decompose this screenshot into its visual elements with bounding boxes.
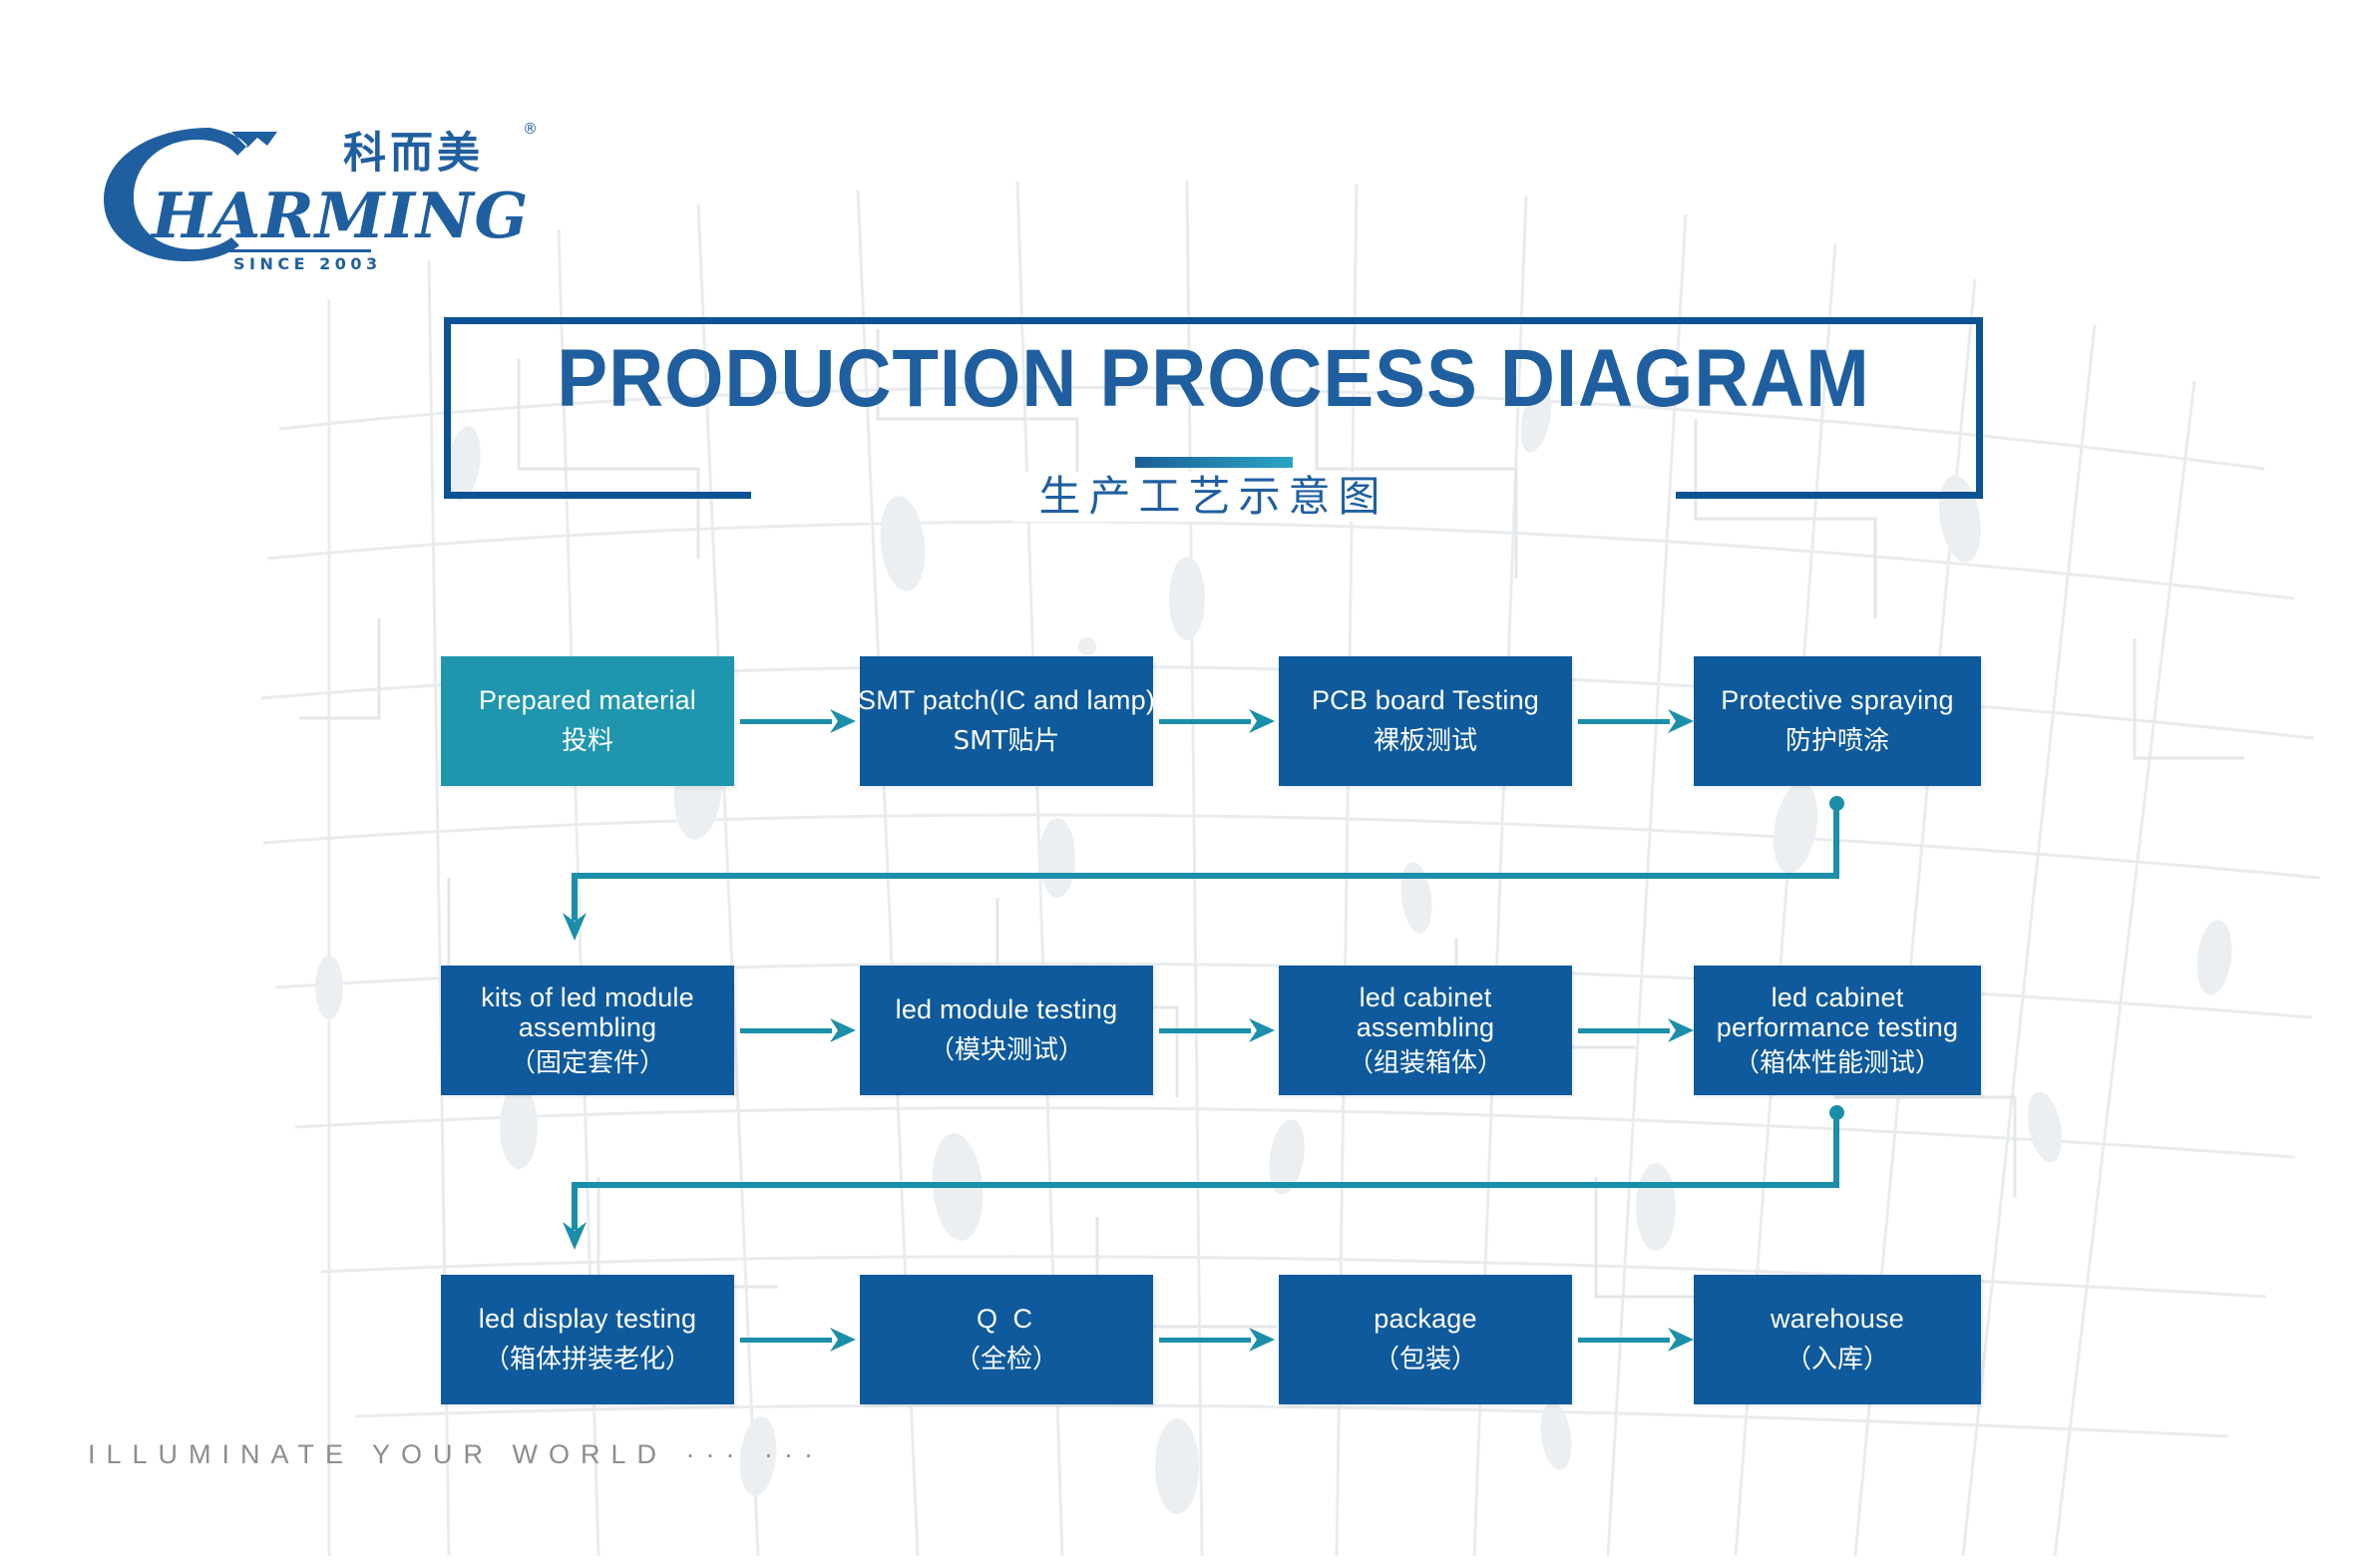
logo-since-text: SINCE 2003 bbox=[233, 254, 382, 271]
step-label-cn: （箱体拼装老化） bbox=[484, 1344, 691, 1375]
step-label-en: package bbox=[1374, 1304, 1476, 1334]
arrow-row3-2-to-3 bbox=[1159, 1325, 1275, 1355]
page-title: PRODUCTION PROCESS DIAGRAM bbox=[498, 331, 1929, 427]
step-label-cn: SMT贴片 bbox=[954, 725, 1060, 757]
footer-tagline: ILLUMINATE YOUR WORLD ··· ··· bbox=[88, 1439, 824, 1470]
step-label-cn: （固定套件） bbox=[510, 1047, 665, 1079]
arrow-shaft bbox=[1578, 1028, 1670, 1033]
arrow-head-icon bbox=[1668, 706, 1694, 736]
arrow-shaft bbox=[1578, 719, 1670, 724]
process-step-row1-4[interactable]: Protective spraying 防护喷涂 bbox=[1694, 656, 1981, 786]
title-frame-left-border bbox=[444, 317, 451, 499]
title-frame-bottom-right-border bbox=[1676, 492, 1983, 499]
process-step-row3-1[interactable]: led display testing （箱体拼装老化） bbox=[441, 1275, 734, 1404]
step-label-cn: （全检） bbox=[955, 1344, 1058, 1375]
step-label-en: led display testing bbox=[479, 1304, 696, 1334]
process-step-row1-3[interactable]: PCB board Testing 裸板测试 bbox=[1279, 656, 1572, 786]
page-subtitle: 生产工艺示意图 bbox=[1012, 472, 1413, 522]
step-label-en: SMT patch(IC and lamp) bbox=[858, 685, 1155, 715]
connector-arrow-head-icon bbox=[560, 913, 590, 941]
arrow-row1-2-to-3 bbox=[1159, 706, 1275, 736]
step-label-en: Prepared material bbox=[479, 685, 696, 715]
arrow-shaft bbox=[740, 719, 832, 724]
arrow-shaft bbox=[1159, 1338, 1251, 1343]
arrow-head-icon bbox=[830, 1325, 856, 1355]
charming-logo: HARMING 科而美 ® SINCE 2003 bbox=[82, 112, 541, 271]
title-frame-top-border bbox=[444, 317, 1983, 324]
process-step-row3-3[interactable]: package （包装） bbox=[1279, 1275, 1572, 1404]
step-label-cn: （入库） bbox=[1785, 1344, 1889, 1375]
arrow-row2-3-to-4 bbox=[1578, 1015, 1694, 1045]
arrow-shaft bbox=[1578, 1338, 1670, 1343]
step-label-en: led module testing bbox=[896, 994, 1118, 1024]
arrow-head-icon bbox=[830, 706, 856, 736]
arrow-shaft bbox=[1159, 719, 1251, 724]
arrow-shaft bbox=[1159, 1028, 1251, 1033]
step-label-cn: 裸板测试 bbox=[1374, 725, 1477, 757]
step-label-en: led cabinet performance testing bbox=[1694, 982, 1981, 1042]
step-label-en: Q C bbox=[977, 1304, 1036, 1334]
title-accent-underline bbox=[1135, 457, 1293, 468]
process-step-row1-1[interactable]: Prepared material 投料 bbox=[441, 656, 734, 786]
connector-vertical-right bbox=[1833, 803, 1839, 878]
process-step-row3-4[interactable]: warehouse （入库） bbox=[1694, 1275, 1981, 1404]
connector-horizontal bbox=[572, 873, 1839, 879]
step-label-en: PCB board Testing bbox=[1312, 685, 1539, 715]
step-label-cn: （模块测试） bbox=[929, 1034, 1084, 1066]
step-label-en: kits of led module assembling bbox=[457, 982, 718, 1042]
logo-wordmark-text: HARMING bbox=[150, 179, 529, 252]
arrow-row3-3-to-4 bbox=[1578, 1325, 1694, 1355]
step-label-cn: （箱体性能测试） bbox=[1734, 1047, 1941, 1079]
title-frame-right-border bbox=[1976, 317, 1983, 499]
connector-horizontal bbox=[572, 1182, 1839, 1188]
arrow-row1-3-to-4 bbox=[1578, 706, 1694, 736]
arrow-head-icon bbox=[1668, 1325, 1694, 1355]
arrow-row3-1-to-2 bbox=[740, 1325, 856, 1355]
process-step-row2-1[interactable]: kits of led module assembling （固定套件） bbox=[441, 966, 734, 1095]
step-label-en: led cabinet assembling bbox=[1326, 982, 1525, 1042]
title-frame-bottom-left-border bbox=[444, 492, 751, 499]
arrow-head-icon bbox=[1668, 1015, 1694, 1045]
title-frame: PRODUCTION PROCESS DIAGRAM 生产工艺示意图 bbox=[444, 317, 1983, 499]
process-step-row2-3[interactable]: led cabinet assembling （组装箱体） bbox=[1279, 966, 1572, 1095]
arrow-row2-1-to-2 bbox=[740, 1015, 856, 1045]
registered-trademark-icon: ® bbox=[523, 120, 538, 138]
connector-vertical-right bbox=[1833, 1112, 1839, 1187]
process-step-row1-2[interactable]: SMT patch(IC and lamp) SMT贴片 bbox=[860, 656, 1153, 786]
process-step-row3-2[interactable]: Q C （全检） bbox=[860, 1275, 1153, 1404]
step-label-en: warehouse bbox=[1771, 1304, 1904, 1334]
arrow-row1-1-to-2 bbox=[740, 706, 856, 736]
arrow-head-icon bbox=[1249, 1015, 1275, 1045]
step-label-en: Protective spraying bbox=[1721, 685, 1953, 715]
arrow-head-icon bbox=[1249, 1325, 1275, 1355]
arrow-shaft bbox=[740, 1028, 832, 1033]
production-process-diagram-page: HARMING 科而美 ® SINCE 2003 PRODUCTION PROC… bbox=[0, 0, 2376, 1568]
process-step-row2-2[interactable]: led module testing （模块测试） bbox=[860, 966, 1153, 1095]
arrow-head-icon bbox=[830, 1015, 856, 1045]
step-label-cn: 防护喷涂 bbox=[1785, 725, 1889, 757]
connector-arrow-head-icon bbox=[560, 1222, 590, 1250]
arrow-row2-2-to-3 bbox=[1159, 1015, 1275, 1045]
step-label-cn: （包装） bbox=[1374, 1344, 1477, 1375]
arrow-head-icon bbox=[1249, 706, 1275, 736]
logo-chinese-name: 科而美 bbox=[343, 129, 484, 179]
step-label-cn: 投料 bbox=[562, 725, 613, 757]
arrow-shaft bbox=[740, 1338, 832, 1343]
process-step-row2-4[interactable]: led cabinet performance testing （箱体性能测试） bbox=[1694, 966, 1981, 1095]
step-label-cn: （组装箱体） bbox=[1348, 1047, 1503, 1079]
